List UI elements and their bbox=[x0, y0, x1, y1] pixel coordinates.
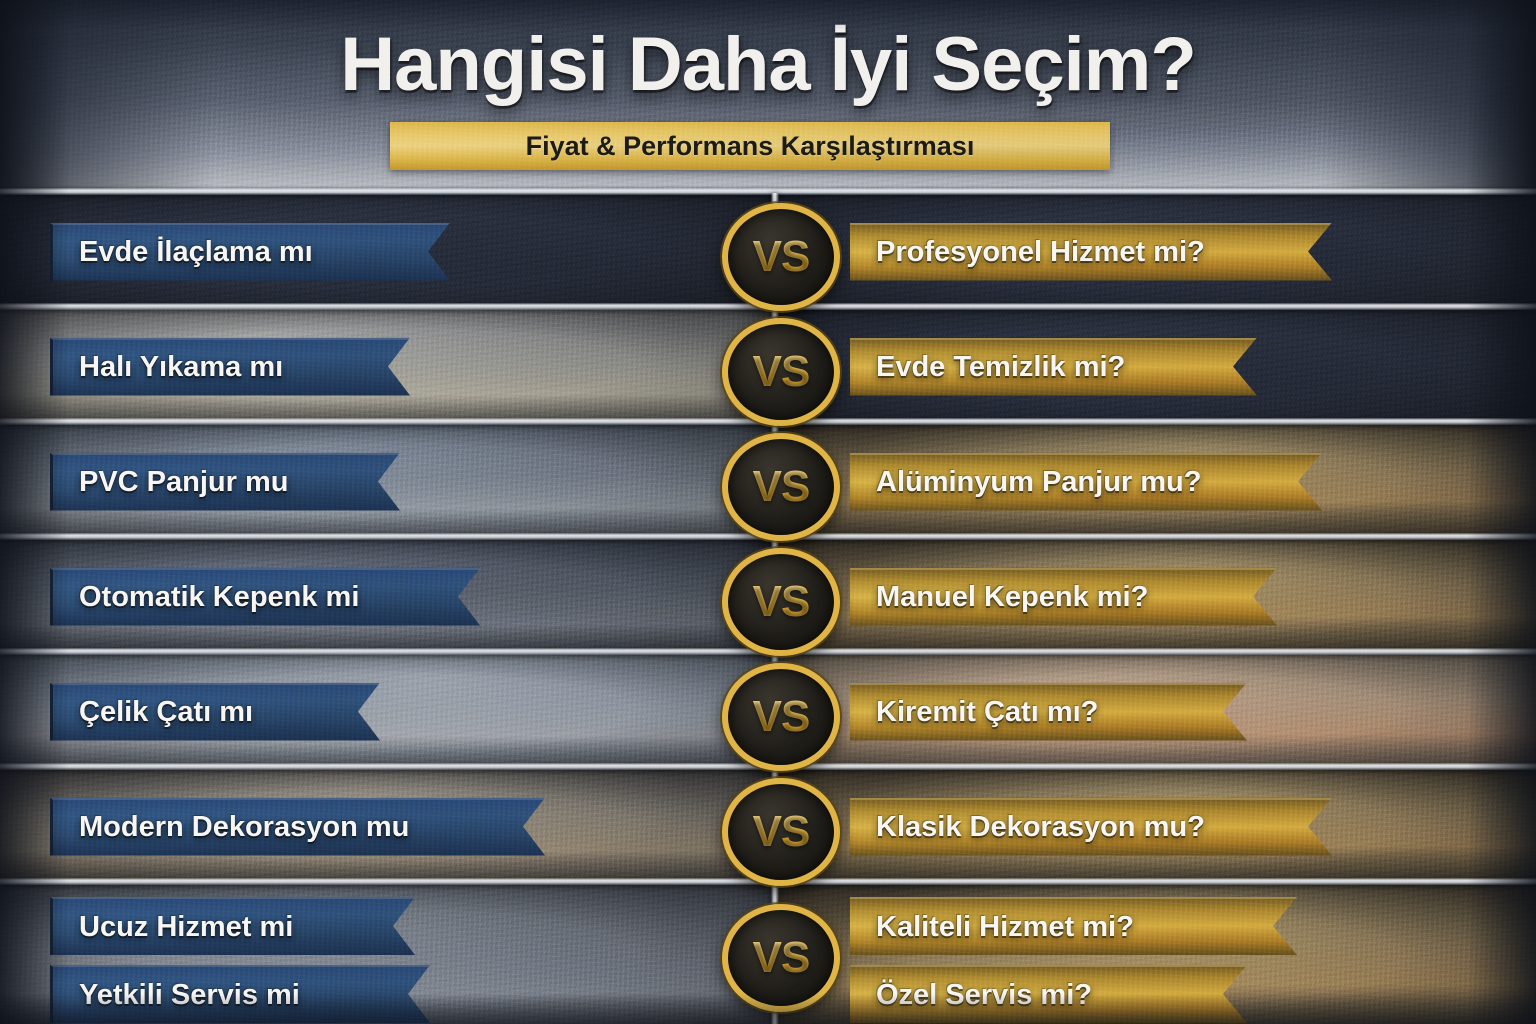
vs-label: VS bbox=[753, 933, 810, 983]
infographic-poster: Hangisi Daha İyi Seçim? Fiyat & Performa… bbox=[0, 0, 1536, 1024]
vs-label: VS bbox=[753, 577, 810, 627]
right-option-banner[interactable]: Kaliteli Hizmet mi? bbox=[850, 897, 1297, 955]
left-option-banner[interactable]: PVC Panjur mu bbox=[50, 453, 400, 511]
vs-label: VS bbox=[753, 807, 810, 857]
right-option-banner[interactable]: Manuel Kepenk mi? bbox=[850, 568, 1277, 626]
right-option-label: Kaliteli Hizmet mi? bbox=[876, 913, 1134, 942]
left-option-label: Modern Dekorasyon mu bbox=[79, 813, 409, 842]
right-option-banner[interactable]: Evde Temizlik mi? bbox=[850, 338, 1257, 396]
vs-label: VS bbox=[753, 692, 810, 742]
left-option-banner[interactable]: Yetkili Servis mi bbox=[50, 965, 430, 1023]
right-option-label: Klasik Dekorasyon mu? bbox=[876, 813, 1205, 842]
left-option-label: Evde İlaçlama mı bbox=[79, 238, 313, 267]
row-divider bbox=[0, 188, 1536, 195]
vs-label: VS bbox=[753, 232, 810, 282]
right-option-label: Evde Temizlik mi? bbox=[876, 353, 1125, 382]
right-option-label: Manuel Kepenk mi? bbox=[876, 583, 1148, 612]
page-subtitle: Fiyat & Performans Karşılaştırması bbox=[390, 122, 1110, 170]
right-option-banner[interactable]: Kiremit Çatı mı? bbox=[850, 683, 1247, 741]
subtitle-bar: Fiyat & Performans Karşılaştırması bbox=[390, 122, 1110, 170]
left-option-label: Halı Yıkama mı bbox=[79, 353, 283, 382]
left-option-banner[interactable]: Otomatik Kepenk mi bbox=[50, 568, 480, 626]
right-option-label: Profesyonel Hizmet mi? bbox=[876, 238, 1205, 267]
left-option-label: PVC Panjur mu bbox=[79, 468, 289, 497]
vs-badge: VS bbox=[722, 433, 840, 541]
vs-badge: VS bbox=[722, 318, 840, 426]
left-option-label: Çelik Çatı mı bbox=[79, 698, 253, 727]
right-option-banner[interactable]: Özel Servis mi? bbox=[850, 965, 1247, 1023]
vs-badge: VS bbox=[722, 663, 840, 771]
left-option-banner[interactable]: Modern Dekorasyon mu bbox=[50, 798, 545, 856]
page-title: Hangisi Daha İyi Seçim? bbox=[0, 22, 1536, 108]
vs-label: VS bbox=[753, 347, 810, 397]
left-option-label: Otomatik Kepenk mi bbox=[79, 583, 359, 612]
poster-header: Hangisi Daha İyi Seçim? Fiyat & Performa… bbox=[0, 0, 1536, 193]
left-option-banner[interactable]: Halı Yıkama mı bbox=[50, 338, 410, 396]
right-option-label: Özel Servis mi? bbox=[876, 981, 1092, 1010]
right-option-banner[interactable]: Alüminyum Panjur mu? bbox=[850, 453, 1322, 511]
vs-badge: VS bbox=[722, 203, 840, 311]
vs-badge: VS bbox=[722, 548, 840, 656]
left-option-label: Yetkili Servis mi bbox=[79, 981, 300, 1010]
left-option-banner[interactable]: Çelik Çatı mı bbox=[50, 683, 380, 741]
left-option-banner[interactable]: Evde İlaçlama mı bbox=[50, 223, 450, 281]
right-option-banner[interactable]: Klasik Dekorasyon mu? bbox=[850, 798, 1332, 856]
left-option-label: Ucuz Hizmet mi bbox=[79, 913, 293, 942]
left-option-banner[interactable]: Ucuz Hizmet mi bbox=[50, 897, 415, 955]
vs-badge: VS bbox=[722, 904, 840, 1012]
vs-badge: VS bbox=[722, 778, 840, 886]
right-option-label: Alüminyum Panjur mu? bbox=[876, 468, 1201, 497]
right-option-banner[interactable]: Profesyonel Hizmet mi? bbox=[850, 223, 1332, 281]
right-option-label: Kiremit Çatı mı? bbox=[876, 698, 1098, 727]
vs-label: VS bbox=[753, 462, 810, 512]
